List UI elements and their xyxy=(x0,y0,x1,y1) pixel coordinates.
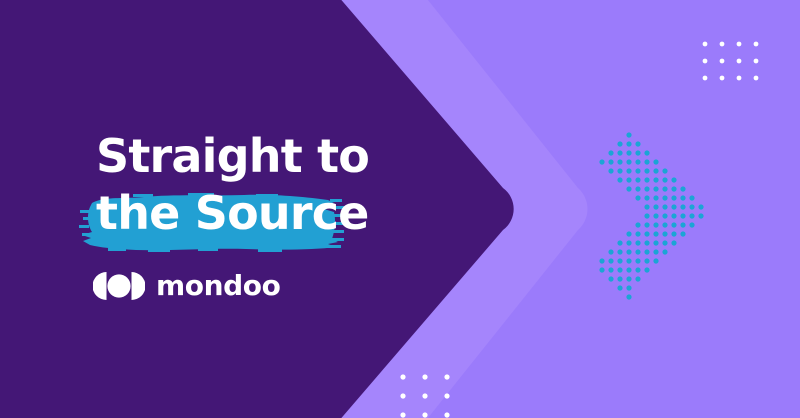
mondoo-straight-to-the-source-banner: Straight to the Source mondoo xyxy=(0,0,800,418)
mondoo-logo: mondoo xyxy=(93,268,280,304)
headline-block: Straight to the Source xyxy=(93,128,513,242)
mondoo-logo-mark xyxy=(93,272,145,300)
mondoo-wordmark: mondoo xyxy=(156,272,280,300)
headline-line-1: Straight to xyxy=(96,128,513,185)
headline-line-2: the Source xyxy=(96,185,513,242)
